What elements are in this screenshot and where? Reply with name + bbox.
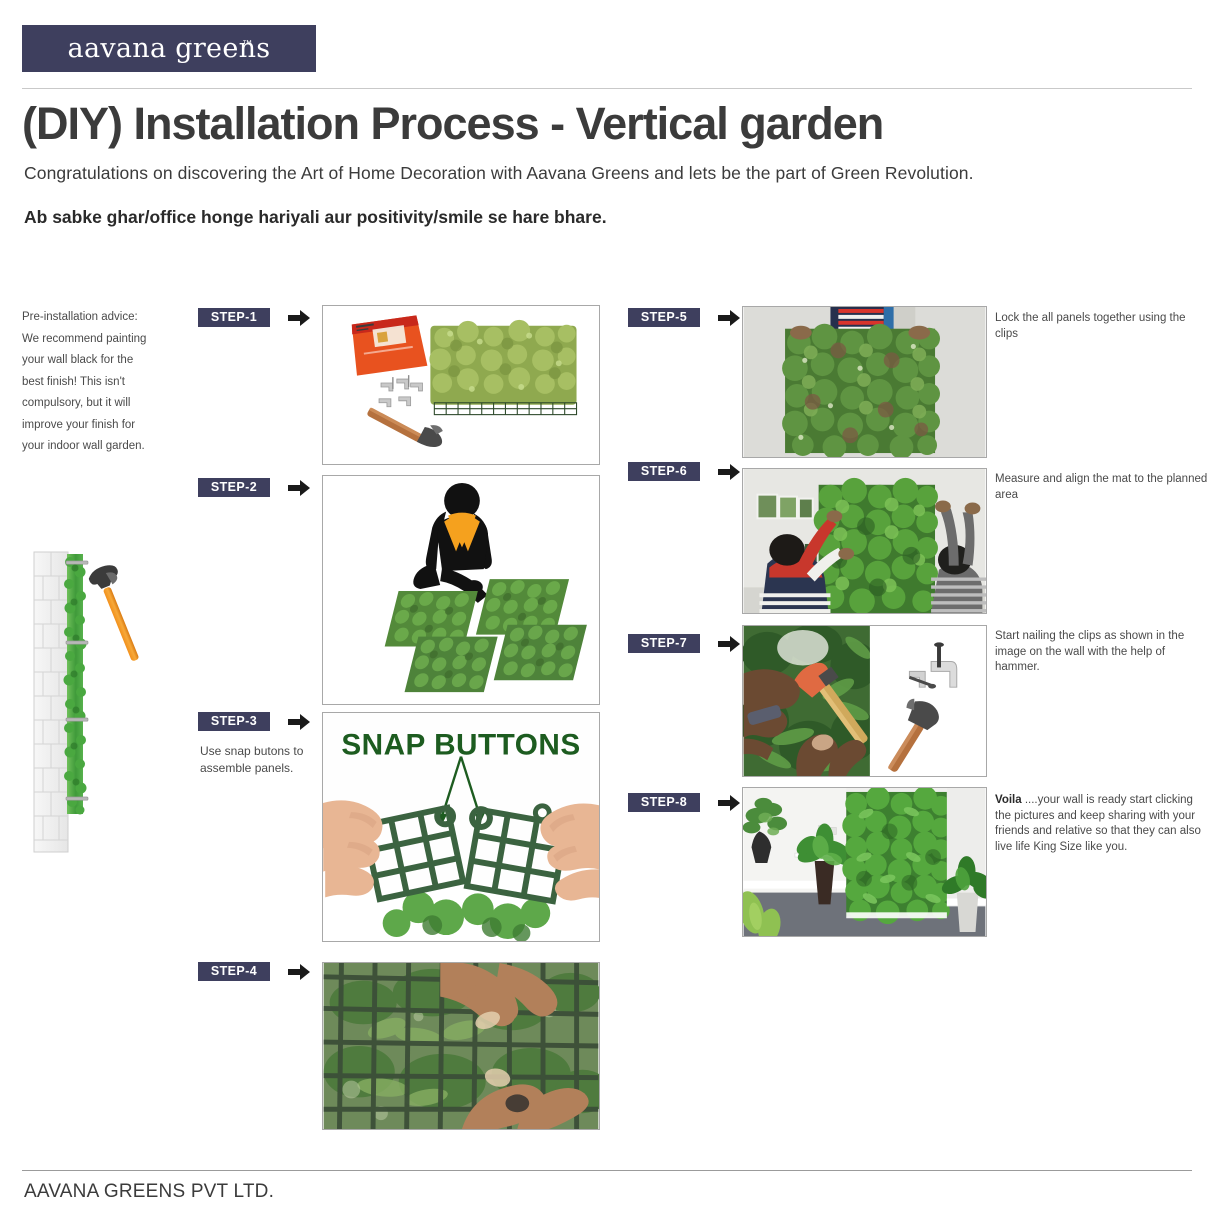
step-3-image: SNAP BUTTONS bbox=[322, 712, 600, 942]
advice-line: best finish! This isn't bbox=[22, 372, 192, 394]
pre-installation-advice: Pre-installation advice: We recommend pa… bbox=[22, 307, 192, 458]
step-tag-6: STEP-6 bbox=[628, 462, 740, 481]
subtitle-part-2: and lets be the part of Green Revolution… bbox=[649, 163, 973, 183]
installation-guide-page: aavana greens™ (DIY) Installation Proces… bbox=[0, 0, 1214, 1214]
step-tag-5: STEP-5 bbox=[628, 308, 740, 327]
arrow-right-icon bbox=[718, 310, 740, 326]
step-label-3: STEP-3 bbox=[198, 712, 270, 731]
advice-line: improve your finish for bbox=[22, 415, 192, 437]
page-title: (DIY) Installation Process - Vertical ga… bbox=[22, 98, 883, 150]
step-7-image bbox=[742, 625, 987, 777]
brick-wall-illustration bbox=[26, 532, 148, 862]
step-tag-8: STEP-8 bbox=[628, 793, 740, 812]
arrow-right-icon bbox=[718, 795, 740, 811]
step-tag-1: STEP-1 bbox=[198, 308, 310, 327]
brand-logo-text: aavana greens™ bbox=[68, 33, 271, 64]
arrow-right-icon bbox=[718, 464, 740, 480]
arrow-right-icon bbox=[288, 964, 310, 980]
trademark-icon: ™ bbox=[242, 39, 252, 50]
brand-name: aavana greens bbox=[68, 33, 271, 64]
step-label-8: STEP-8 bbox=[628, 793, 700, 812]
advice-line: your wall black for the bbox=[22, 350, 192, 372]
step-4-image bbox=[322, 962, 600, 1130]
step-tag-2: STEP-2 bbox=[198, 478, 310, 497]
page-tagline: Ab sabke ghar/office honge hariyali aur … bbox=[24, 207, 607, 228]
advice-line: your indoor wall garden. bbox=[22, 436, 192, 458]
footer-divider bbox=[22, 1170, 1192, 1171]
advice-line: We recommend painting bbox=[22, 329, 192, 351]
step-label-5: STEP-5 bbox=[628, 308, 700, 327]
advice-line: Pre-installation advice: bbox=[22, 307, 192, 329]
step-1-image bbox=[322, 305, 600, 465]
step-tag-7: STEP-7 bbox=[628, 634, 740, 653]
step-tag-3: STEP-3 bbox=[198, 712, 310, 731]
step-label-2: STEP-2 bbox=[198, 478, 270, 497]
arrow-right-icon bbox=[288, 310, 310, 326]
step-3-note: Use snap butons to assemble panels. bbox=[200, 743, 320, 777]
header-divider bbox=[22, 88, 1192, 89]
page-subtitle: Congratulations on discovering the Art o… bbox=[24, 163, 974, 184]
step-8-caption-rest: ....your wall is ready start clicking th… bbox=[995, 794, 1201, 853]
arrow-right-icon bbox=[288, 714, 310, 730]
step-8-caption: Voila ....your wall is ready start click… bbox=[995, 793, 1210, 855]
step-6-caption: Measure and align the mat to the planned… bbox=[995, 472, 1210, 503]
arrow-right-icon bbox=[718, 636, 740, 652]
step-5-caption: Lock the all panels together using the c… bbox=[995, 311, 1210, 342]
brand-logo: aavana greens™ bbox=[22, 25, 316, 72]
step-7-caption: Start nailing the clips as shown in the … bbox=[995, 629, 1210, 676]
advice-line: compulsory, but it will bbox=[22, 393, 192, 415]
step-tag-4: STEP-4 bbox=[198, 962, 310, 981]
step-label-7: STEP-7 bbox=[628, 634, 700, 653]
step-8-caption-bold: Voila bbox=[995, 794, 1022, 806]
step-6-image bbox=[742, 468, 987, 614]
footer-company-name: AAVANA GREENS PVT LTD. bbox=[24, 1181, 274, 1203]
arrow-right-icon bbox=[288, 480, 310, 496]
step-label-4: STEP-4 bbox=[198, 962, 270, 981]
step-8-image bbox=[742, 787, 987, 937]
step-label-1: STEP-1 bbox=[198, 308, 270, 327]
step-2-image bbox=[322, 475, 600, 705]
step-label-6: STEP-6 bbox=[628, 462, 700, 481]
step-5-image bbox=[742, 306, 987, 458]
subtitle-part-1: Congratulations on discovering the Art o… bbox=[24, 163, 649, 183]
